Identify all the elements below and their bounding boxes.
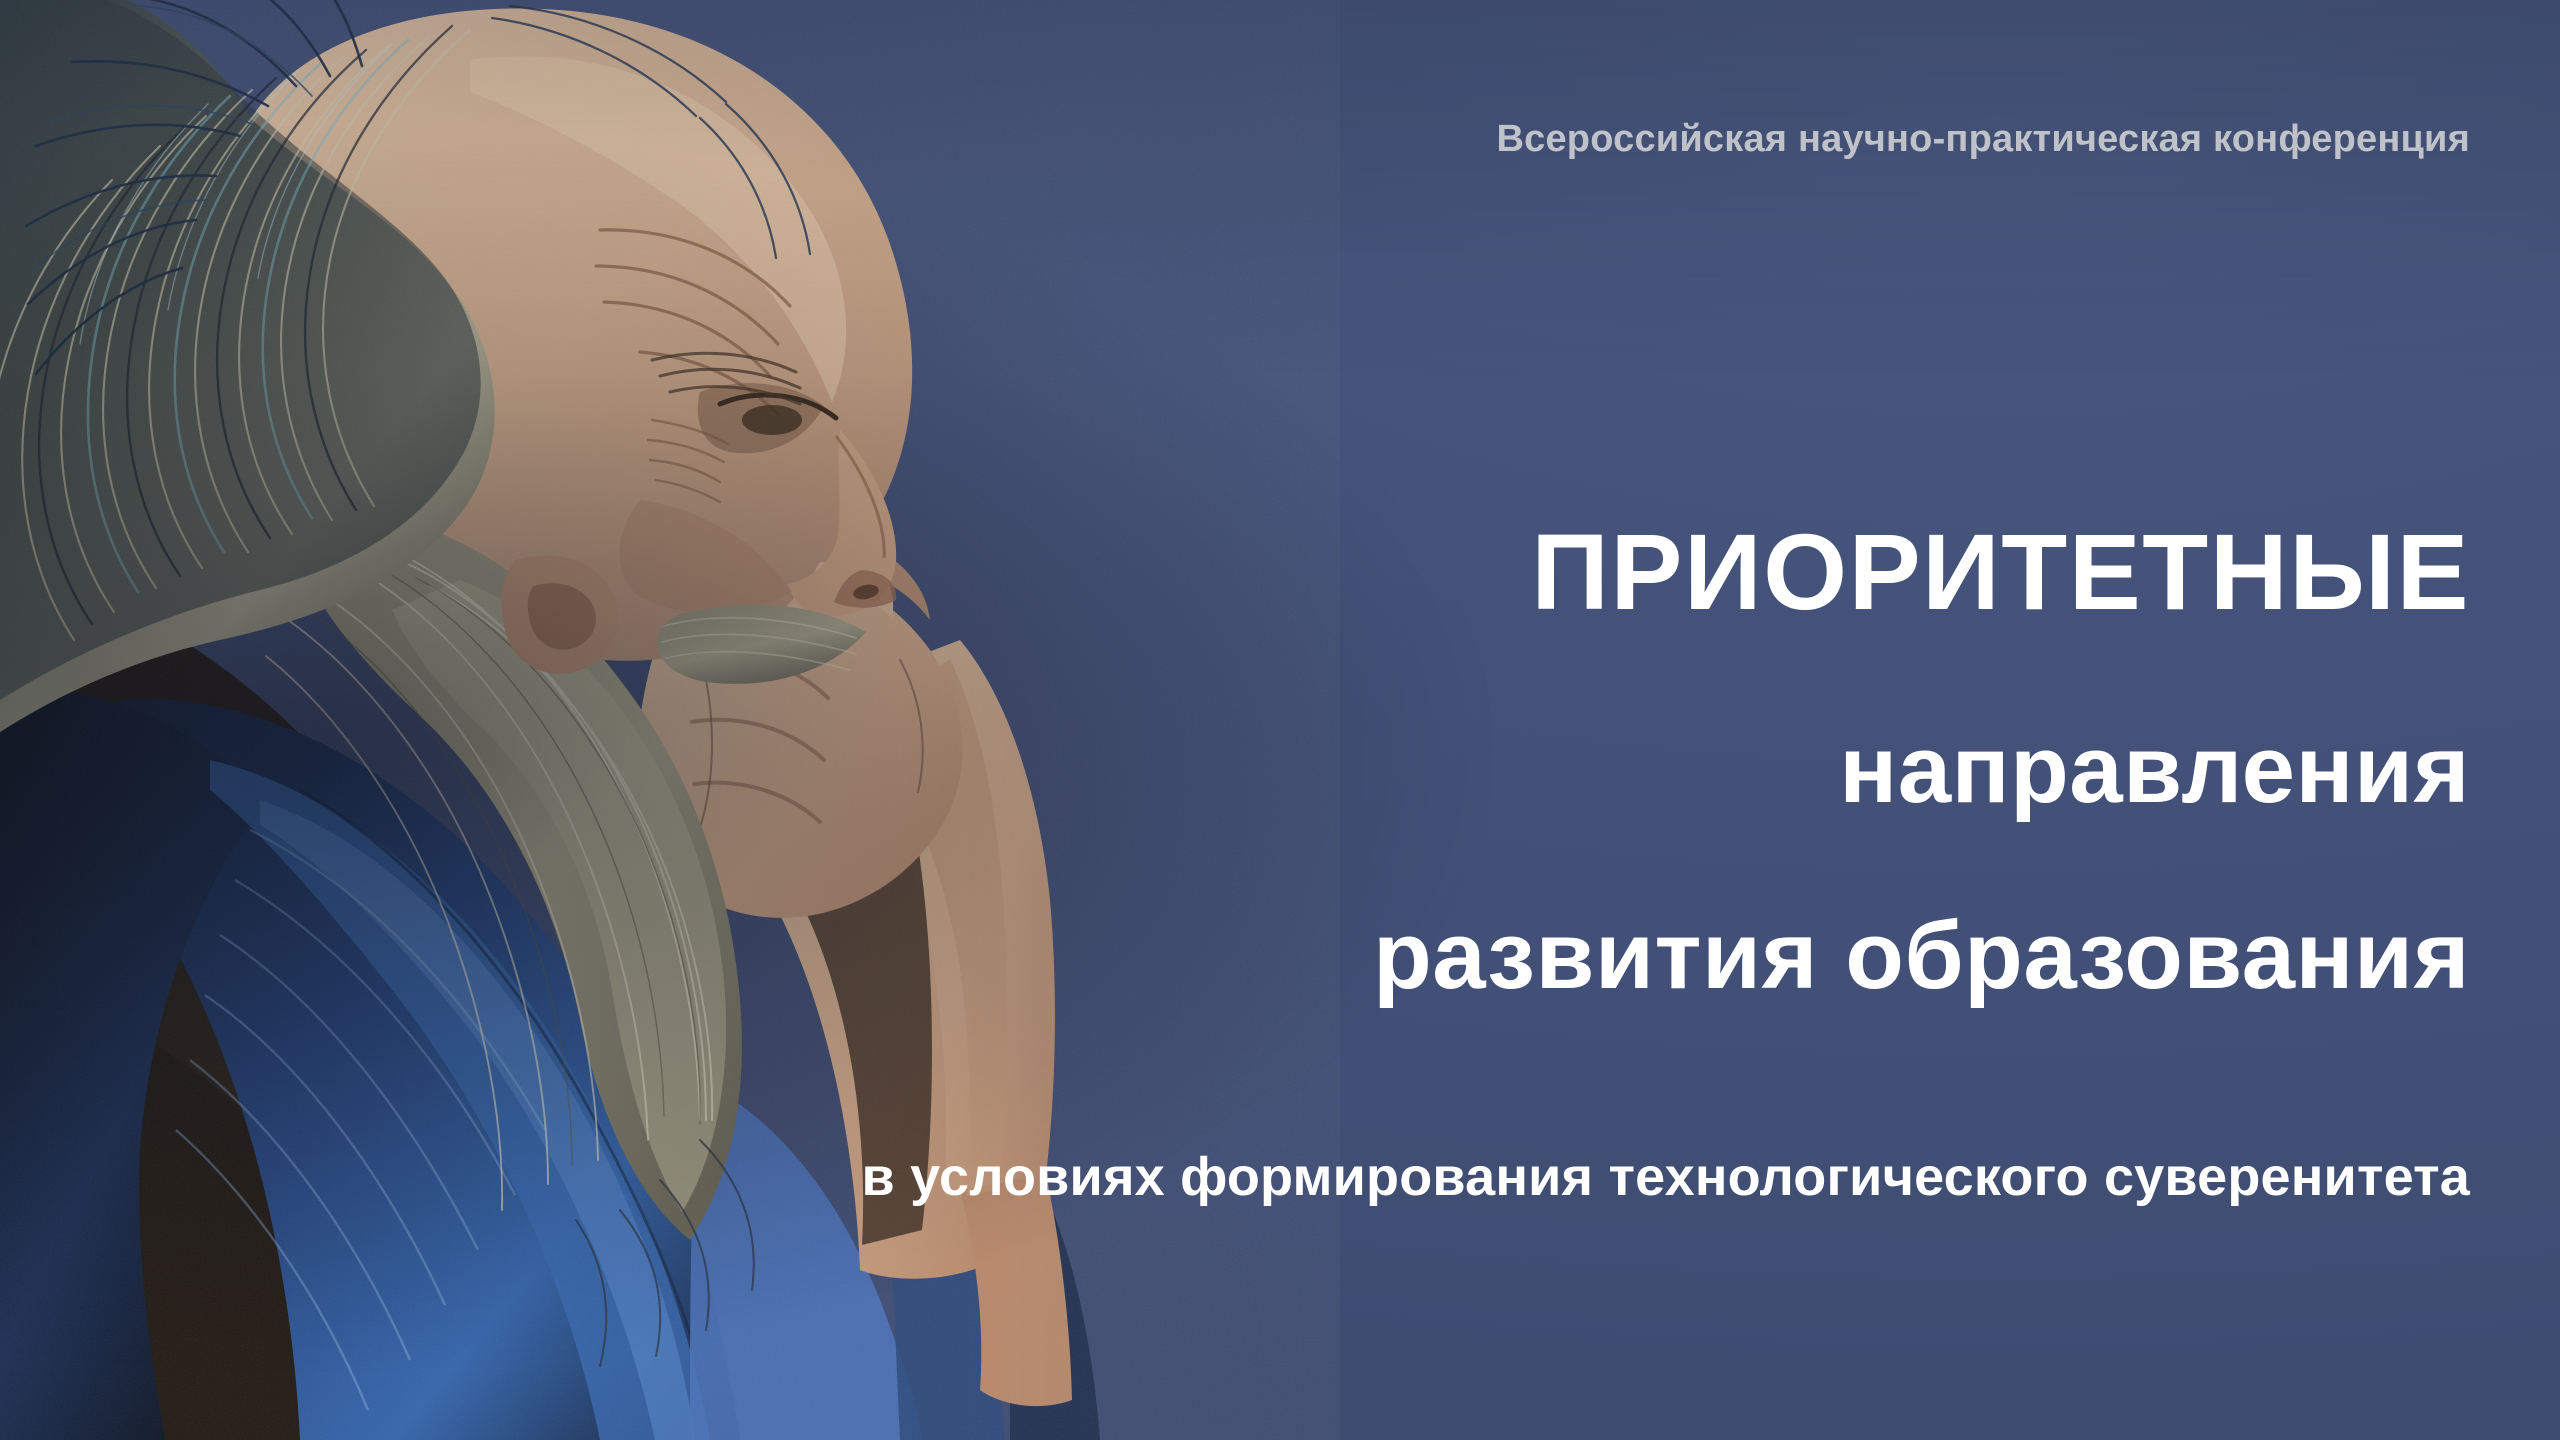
conference-poster: Всероссийская научно-практическая конфер… [0,0,2560,1440]
poster-subtitle: в условиях формирования технологического… [861,1150,2470,1204]
conference-kicker: Всероссийская научно-практическая конфер… [1497,118,2471,161]
poster-title-line-1: ПРИОРИТЕТНЫЕ [1531,518,2470,626]
poster-title-line-3: развития образования [1373,908,2470,1004]
poster-text-block: Всероссийская научно-практическая конфер… [0,0,2560,1440]
poster-title-line-2: направления [1839,722,2470,818]
